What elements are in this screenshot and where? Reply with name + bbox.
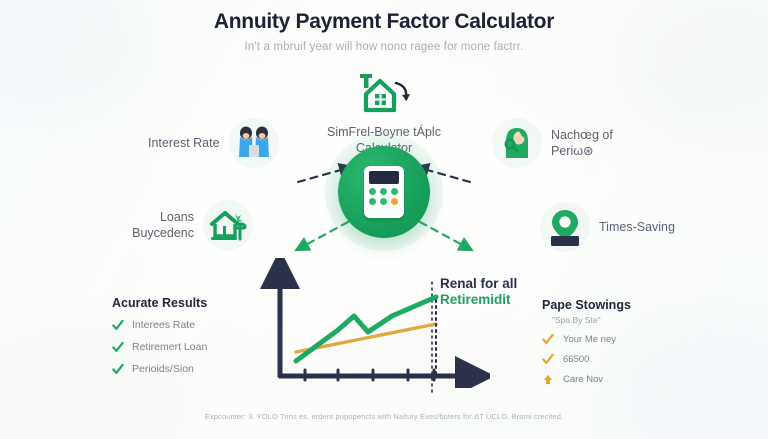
node-loans-buycedenc[interactable]: Loans Buycedenc [104,200,253,250]
header: Annuity Payment Factor Calculator In't a… [0,10,768,53]
results-heading: Acurate Results [112,296,262,310]
caption-line-1: Renal for all [440,276,517,292]
caption-line-2: Retiremidit [440,292,517,308]
node-number-of-periods[interactable]: Nachœɡ of Periω⊛ [492,118,641,168]
check-icon [542,334,554,345]
savings-quote: "Spɢ By Ste" [552,315,712,325]
node-interest-rate[interactable]: Interest Rate [148,118,279,168]
savings-heading: Pape Stowings [542,298,712,312]
list-item[interactable]: Perioids/Sion [112,363,262,375]
node-label: Times-Saving [599,219,675,235]
calculator-icon [364,166,404,218]
check-icon [542,354,554,365]
list-item[interactable]: Care Nov [542,374,712,385]
infographic-canvas: Annuity Payment Factor Calculator In't a… [0,0,768,439]
node-label: Loans Buycedenc [104,209,194,241]
house-arrow-icon [356,72,412,116]
list-item-label: Interees Rate [132,319,195,331]
accurate-results-panel: Acurate Results Interees Rate Retiremert… [112,296,262,385]
location-pin-icon [545,206,585,248]
list-item-label: Retiremert Loan [132,341,207,353]
check-icon [112,342,124,353]
footer-disclaimer: Expcounter: 3. YOLO Trins es, erdent pup… [0,412,768,421]
page-title: Annuity Payment Factor Calculator [0,10,768,34]
list-item-label: 66500 [563,354,589,365]
icon-bubble [203,200,253,250]
check-icon [112,364,124,375]
icon-bubble [492,118,542,168]
list-item[interactable]: Interees Rate [112,319,262,331]
list-item-label: Care Nov [563,374,603,385]
list-item-label: Your Me ney [563,334,616,345]
icon-bubble [540,202,590,252]
green-house-icon [207,206,249,244]
person-green-icon [497,123,537,163]
page-subtitle: In't a mbruif year will how nono ragee f… [0,41,768,53]
page-savings-panel: Pape Stowings "Spɢ By Ste" Your Me ney 6… [542,298,712,394]
list-item[interactable]: 66500 [542,354,712,365]
list-item-label: Perioids/Sion [132,363,194,375]
up-arrow-icon [542,374,554,385]
chart-caption: Renal for all Retiremidit [440,276,517,309]
list-item[interactable]: Retiremert Loan [112,341,262,353]
node-times-saving[interactable]: Times-Saving [540,202,675,252]
calculator-screen [369,171,399,184]
calculator-keys [369,188,399,205]
node-label: Nachœɡ of Periω⊛ [551,127,641,159]
list-item[interactable]: Your Me ney [542,334,712,345]
check-icon [112,320,124,331]
calculator-hub[interactable] [338,146,430,238]
icon-bubble [229,118,279,168]
node-label: Interest Rate [148,135,220,151]
two-people-icon [232,123,276,163]
